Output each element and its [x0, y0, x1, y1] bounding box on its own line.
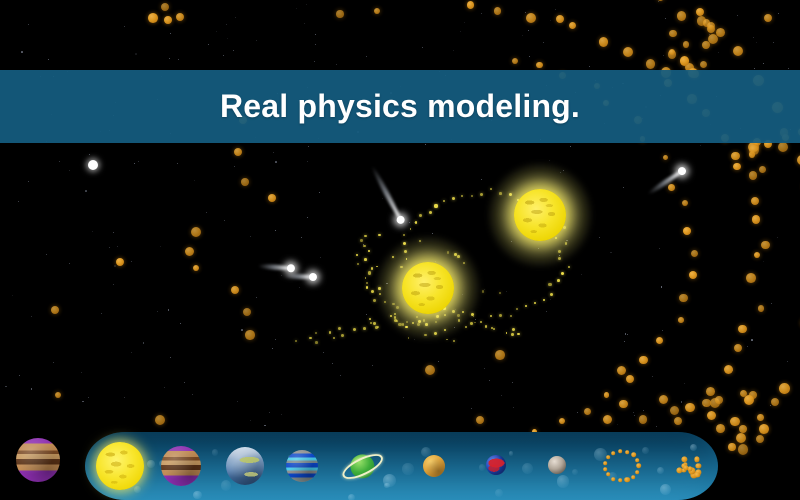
asteroid-particle: [619, 400, 627, 408]
dock-bubble: [402, 463, 413, 474]
stream-particle: [333, 337, 336, 340]
asteroid-particle: [677, 11, 687, 21]
asteroid-ring-rock: [606, 473, 610, 477]
stream-particle: [485, 325, 488, 328]
asteroid-particle: [559, 418, 565, 424]
asteroid-particle: [749, 171, 757, 179]
asteroid-ring-rock: [604, 467, 608, 471]
dock-bubble: [642, 447, 649, 454]
asteroid-ring-rock: [635, 458, 639, 462]
stream-particle: [370, 322, 372, 324]
asteroid-particle: [374, 8, 381, 15]
headline-text: Real physics modeling.: [220, 88, 580, 125]
asteroid-particle: [185, 247, 194, 256]
dock-item-asteroid-field[interactable]: [674, 451, 705, 482]
asteroid-ring-rock: [604, 461, 608, 465]
stream-particle: [357, 263, 359, 265]
asteroid-particle: [746, 273, 756, 283]
stream-particle: [341, 334, 344, 337]
asteroid-field-rock: [695, 472, 700, 477]
asteroid-particle: [683, 41, 690, 48]
asteroid-particle: [778, 142, 788, 152]
asteroid-particle: [268, 194, 276, 202]
stream-particle: [470, 322, 473, 325]
stream-particle: [356, 254, 358, 256]
asteroid-particle: [733, 46, 743, 56]
dock-bubble: [193, 491, 201, 499]
stream-particle: [517, 333, 520, 336]
asteroid-particle: [724, 365, 733, 374]
stream-particle: [557, 279, 560, 282]
asteroid-particle: [243, 308, 251, 316]
asteroid-particle: [754, 252, 760, 258]
asteroid-particle: [191, 227, 201, 237]
stream-particle: [368, 271, 371, 274]
asteroid-particle: [656, 337, 664, 345]
sun-icon: [96, 442, 144, 490]
stream-particle: [360, 239, 363, 242]
dock-bubble: [348, 494, 356, 500]
stream-particle: [493, 328, 495, 330]
comet-mid-left-b: [284, 272, 314, 281]
asteroid-particle: [706, 387, 715, 396]
asteroid-particle: [691, 250, 698, 257]
comet-right-upper: [646, 167, 685, 197]
asteroid-particle: [670, 406, 679, 415]
asteroid-ring-rock: [631, 453, 636, 458]
stream-particle: [512, 328, 515, 331]
asteroid-particle: [599, 37, 609, 47]
asteroid-particle: [771, 398, 779, 406]
asteroid-particle: [733, 163, 741, 171]
asteroid-particle: [680, 56, 690, 66]
dock-item-ringed-planet[interactable]: [340, 444, 383, 487]
stream-particle: [309, 337, 311, 339]
stream-particle: [511, 333, 514, 336]
dock-item-lava-planet[interactable]: [481, 450, 511, 480]
stream-particle: [375, 326, 378, 329]
stream-particle: [429, 211, 432, 214]
stream-particle: [446, 339, 448, 341]
asteroid-particle: [536, 62, 543, 69]
stream-particle: [510, 315, 512, 317]
stream-particle: [366, 286, 368, 288]
asteroid-particle: [759, 166, 766, 173]
stream-particle: [480, 321, 482, 323]
stream-particle: [473, 316, 475, 318]
stream-particle: [373, 322, 375, 324]
asteroid-ring-rock: [612, 451, 616, 455]
asteroid-particle: [707, 22, 715, 30]
stream-particle: [474, 322, 476, 324]
stream-particle: [365, 277, 367, 279]
dock-bubble: [660, 484, 671, 495]
star-yellow-right[interactable]: [488, 163, 592, 267]
asteroid-particle: [526, 13, 536, 23]
asteroid-particle: [193, 265, 200, 272]
asteroid-ring-rock: [625, 477, 630, 482]
asteroid-particle: [779, 383, 790, 394]
asteroid-ring-rock: [635, 470, 639, 474]
stream-particle: [490, 315, 493, 318]
dock-bubble: [657, 467, 664, 474]
asteroid-particle: [757, 414, 764, 421]
asteroid-particle: [659, 395, 668, 404]
stream-particle: [368, 250, 370, 252]
stream-particle: [364, 235, 366, 237]
asteroid-field-rock: [677, 467, 683, 473]
asteroid-particle: [759, 424, 769, 434]
asteroid-particle: [245, 330, 254, 339]
comet-head: [395, 214, 406, 225]
dock-item-ocean-planet-sprite: [226, 447, 264, 485]
asteroid-particle: [702, 399, 710, 407]
dock-item-striped-planet-sprite: [286, 450, 318, 482]
stream-particle: [378, 234, 380, 236]
asteroid-ring-rock: [618, 449, 622, 453]
asteroid-particle: [738, 444, 748, 454]
asteroid-particle: [678, 317, 684, 323]
dock-item-lava-planet-sprite: [486, 455, 506, 475]
asteroid-particle: [752, 215, 761, 224]
star-core: [402, 262, 454, 314]
app-screen: Real physics modeling.: [0, 0, 800, 500]
asteroid-particle: [148, 13, 158, 23]
asteroid-particle: [161, 3, 169, 11]
asteroid-particle: [604, 392, 609, 397]
asteroid-particle: [336, 10, 343, 17]
asteroid-particle: [758, 305, 765, 312]
asteroid-particle: [716, 424, 725, 433]
asteroid-particle: [764, 14, 773, 23]
asteroid-particle: [584, 408, 591, 415]
stream-particle: [499, 314, 502, 317]
dock-item-gas-giant[interactable]: [156, 441, 206, 491]
star-core: [514, 189, 566, 241]
asteroid-particle: [669, 30, 677, 38]
stream-particle: [490, 188, 492, 190]
stream-particle: [453, 340, 455, 342]
stream-particle: [369, 318, 371, 320]
asteroid-ring-rock: [618, 479, 622, 483]
asteroid-particle: [738, 325, 746, 333]
asteroid-particle: [626, 375, 634, 383]
stream-particle: [366, 282, 368, 284]
asteroid-particle: [241, 178, 248, 185]
dock-item-asteroid-ring[interactable]: [601, 445, 643, 487]
asteroid-particle: [736, 433, 746, 443]
stream-particle: [461, 195, 463, 197]
asteroid-particle: [639, 356, 648, 365]
sun-icon-spots: [96, 442, 144, 490]
asteroid-particle: [689, 271, 697, 279]
asteroid-particle: [176, 13, 184, 21]
asteroid-particle: [682, 200, 688, 206]
asteroid-particle: [696, 8, 704, 16]
asteroid-field-rock: [684, 466, 688, 470]
dock-item-ocean-planet[interactable]: [221, 442, 269, 490]
stream-particle: [410, 228, 412, 230]
stream-particle: [315, 341, 318, 344]
stream-particle: [329, 331, 331, 333]
stream-particle: [482, 290, 484, 292]
asteroid-particle: [739, 425, 746, 432]
asteroid-particle: [707, 411, 716, 420]
stream-particle: [363, 327, 366, 330]
stream-particle: [403, 234, 405, 236]
stream-particle: [364, 258, 367, 261]
dock-item-moon-sprite: [548, 456, 566, 474]
asteroid-particle: [756, 435, 764, 443]
stream-particle: [371, 290, 374, 293]
stream-particle: [376, 266, 378, 268]
stream-particle: [568, 266, 570, 268]
asteroid-particle: [495, 350, 505, 360]
stream-particle: [415, 221, 417, 223]
asteroid-field-rock: [681, 456, 687, 462]
asteroid-particle: [603, 415, 612, 424]
stream-particle: [516, 308, 518, 310]
stream-particle: [548, 283, 551, 286]
stream-particle: [499, 292, 501, 294]
dock-bubble: [495, 489, 503, 497]
dragged-gas-giant[interactable]: [16, 438, 60, 482]
asteroid-particle: [744, 395, 754, 405]
stream-particle: [506, 332, 508, 334]
stream-particle: [363, 245, 365, 247]
asteroid-particle: [683, 227, 691, 235]
asteroid-ring-rock: [631, 475, 635, 479]
asteroid-particle: [700, 61, 707, 68]
stream-particle: [434, 204, 437, 207]
asteroid-particle: [668, 184, 675, 191]
asteroid-particle: [679, 294, 688, 303]
stream-particle: [465, 326, 467, 328]
stream-particle: [338, 327, 341, 330]
asteroid-particle: [674, 417, 682, 425]
asteroid-particle: [494, 7, 501, 14]
dock-item-moon[interactable]: [543, 451, 571, 479]
asteroid-particle: [639, 415, 647, 423]
dock-item-gas-giant-sprite: [161, 446, 201, 486]
asteroid-particle: [155, 415, 165, 425]
asteroid-particle: [751, 197, 759, 205]
asteroid-particle: [731, 152, 739, 160]
asteroid-particle: [55, 392, 62, 399]
asteroid-particle: [51, 306, 59, 314]
dock-bubble: [383, 474, 396, 487]
dock-item-desert-planet-sprite: [423, 455, 445, 477]
asteroid-particle: [476, 416, 484, 424]
comet-head: [309, 273, 317, 281]
asteroid-particle: [467, 1, 475, 9]
comet-mid-left-a: [258, 262, 292, 272]
dock-bubble: [212, 449, 218, 455]
dock-bubble: [690, 444, 697, 451]
asteroid-ring-rock: [625, 450, 629, 454]
dock-item-striped-planet[interactable]: [281, 445, 323, 487]
asteroid-particle: [749, 145, 759, 155]
asteroid-particle: [685, 403, 695, 413]
dock-item-desert-planet[interactable]: [418, 450, 450, 482]
stream-particle: [480, 193, 483, 196]
stream-particle: [419, 214, 422, 217]
dock-bubble: [572, 469, 578, 475]
stream-particle: [371, 267, 373, 269]
stream-particle: [408, 337, 410, 339]
asteroid-field-rock: [696, 463, 702, 469]
stream-particle: [543, 299, 545, 301]
asteroid-particle: [512, 58, 518, 64]
dragged-gas-giant-sprite: [16, 438, 60, 482]
asteroid-particle: [116, 258, 125, 267]
asteroid-particle: [623, 47, 633, 57]
comet-upper-center: [368, 164, 404, 222]
asteroid-particle: [556, 15, 564, 23]
bright-white-star: [88, 160, 98, 170]
stream-particle: [315, 332, 317, 334]
stream-particle: [550, 293, 553, 296]
asteroid-ring-rock: [606, 455, 610, 459]
stream-particle: [295, 340, 297, 342]
asteroid-particle: [669, 49, 675, 55]
asteroid-particle: [663, 155, 669, 161]
asteroid-ring-rock: [612, 477, 616, 481]
stream-particle: [373, 299, 376, 302]
asteroid-particle: [715, 396, 722, 403]
asteroid-particle: [231, 286, 240, 295]
star-yellow-left[interactable]: [376, 236, 480, 340]
dock-bubble: [522, 463, 533, 474]
asteroid-particle: [702, 41, 710, 49]
stream-particle: [471, 195, 474, 198]
stream-particle: [561, 272, 564, 275]
asteroid-particle: [761, 241, 770, 250]
asteroid-particle: [164, 16, 172, 24]
stream-particle: [525, 305, 527, 307]
asteroid-ring-rock: [636, 464, 641, 469]
asteroid-particle: [730, 417, 740, 427]
asteroid-particle: [734, 344, 742, 352]
asteroid-particle: [646, 59, 656, 69]
stream-particle: [443, 200, 445, 202]
stream-particle: [353, 328, 356, 331]
asteroid-field-rock: [694, 457, 699, 462]
asteroid-particle: [569, 22, 576, 29]
asteroid-particle: [617, 366, 626, 375]
asteroid-particle: [728, 443, 735, 450]
stream-particle: [452, 197, 455, 200]
asteroid-particle: [425, 365, 435, 375]
dock-item-sun[interactable]: [91, 437, 149, 495]
stream-particle: [534, 302, 536, 304]
comet-tail: [370, 165, 404, 222]
headline-banner: Real physics modeling.: [0, 70, 800, 143]
asteroid-particle: [234, 148, 243, 157]
